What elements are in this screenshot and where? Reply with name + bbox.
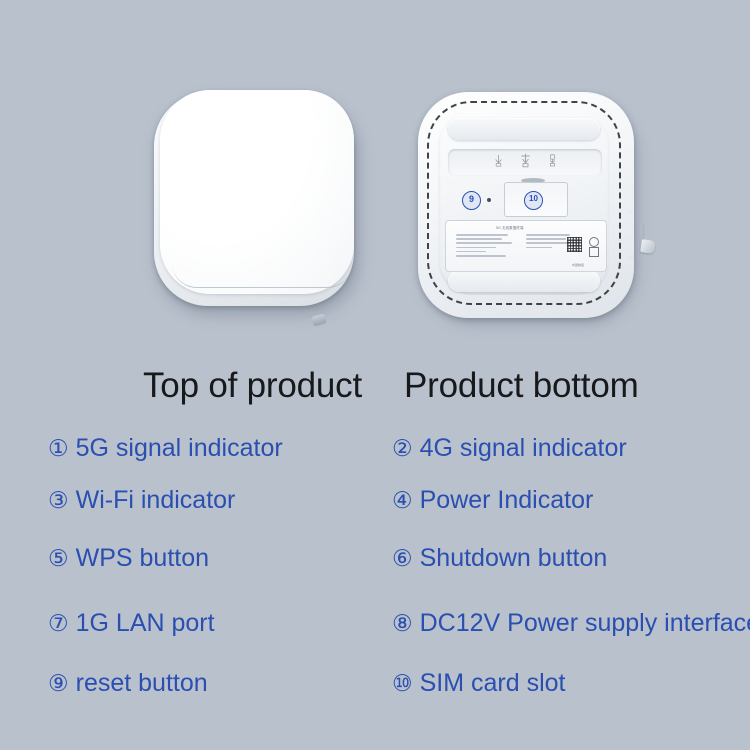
legend-number-3: ③ bbox=[48, 489, 69, 512]
rubber-foot-top bbox=[448, 118, 600, 140]
legend-label-1: 5G signal indicator bbox=[76, 436, 283, 461]
legend-item-6: ⑥ Shutdown button bbox=[392, 546, 607, 571]
legend-number-8: ⑧ bbox=[392, 612, 413, 635]
legend-item-5: ⑤ WPS button bbox=[48, 546, 209, 571]
legend-label-7: 1G LAN port bbox=[76, 611, 215, 636]
bottom-view-shell: 9 10 5G 无线数据终端 bbox=[418, 92, 634, 318]
product-photo-area: 9 10 5G 无线数据终端 bbox=[0, 0, 750, 360]
product-bottom-view-image: 9 10 5G 无线数据终端 bbox=[418, 92, 646, 328]
callout-badge-10: 10 bbox=[524, 191, 543, 210]
top-view-gloss-highlight bbox=[180, 100, 330, 170]
legend-item-9: ⑨ reset button bbox=[48, 671, 208, 696]
legend-item-8: ⑧ DC12V Power supply interface bbox=[392, 611, 750, 636]
reset-pinhole bbox=[487, 198, 491, 202]
specification-label: 5G 无线数据终端 中国制造 bbox=[445, 220, 607, 272]
legend-label-4: Power Indicator bbox=[420, 488, 594, 513]
legend-number-10: ⑩ bbox=[392, 672, 413, 695]
reset-port-icon bbox=[548, 154, 557, 172]
top-view-face bbox=[160, 90, 354, 294]
heading-top-of-product: Top of product bbox=[143, 366, 362, 406]
qr-code bbox=[567, 237, 582, 252]
legend-number-9: ⑨ bbox=[48, 672, 69, 695]
legend-number-4: ④ bbox=[392, 489, 413, 512]
bottom-view-side-tab bbox=[640, 239, 656, 254]
label-text-block-right bbox=[526, 234, 572, 251]
legend-label-3: Wi-Fi indicator bbox=[76, 488, 236, 513]
legend-label-5: WPS button bbox=[76, 546, 209, 571]
legend-label-8: DC12V Power supply interface bbox=[420, 611, 750, 636]
power-port-icon bbox=[520, 153, 531, 173]
label-footer: 中国制造 bbox=[572, 263, 584, 267]
legend-item-4: ④ Power Indicator bbox=[392, 488, 593, 513]
label-text-block-left bbox=[456, 234, 514, 259]
legend-item-1: ① 5G signal indicator bbox=[48, 436, 283, 461]
legend-number-6: ⑥ bbox=[392, 547, 413, 570]
lan-port-icon bbox=[494, 154, 503, 172]
legend-item-3: ③ Wi-Fi indicator bbox=[48, 488, 235, 513]
legend-area: ① 5G signal indicator ③ Wi-Fi indicator … bbox=[0, 428, 750, 728]
product-top-view-image bbox=[152, 88, 364, 320]
top-view-corner-notch bbox=[311, 313, 327, 326]
legend-label-10: SIM card slot bbox=[420, 671, 566, 696]
legend-item-2: ② 4G signal indicator bbox=[392, 436, 627, 461]
top-view-bottom-rim bbox=[172, 263, 352, 288]
legend-number-1: ① bbox=[48, 437, 69, 460]
label-title: 5G 无线数据终端 bbox=[496, 225, 524, 230]
legend-item-7: ⑦ 1G LAN port bbox=[48, 611, 215, 636]
certification-mark-square bbox=[589, 247, 599, 257]
legend-label-6: Shutdown button bbox=[420, 546, 608, 571]
legend-number-2: ② bbox=[392, 437, 413, 460]
legend-item-10: ⑩ SIM card slot bbox=[392, 671, 566, 696]
callout-badge-9: 9 bbox=[462, 191, 481, 210]
certification-mark-circle bbox=[589, 237, 599, 247]
legend-number-7: ⑦ bbox=[48, 612, 69, 635]
legend-number-5: ⑤ bbox=[48, 547, 69, 570]
legend-label-9: reset button bbox=[76, 671, 208, 696]
rubber-foot-bottom bbox=[448, 270, 600, 292]
section-headings: Top of product Product bottom bbox=[0, 366, 750, 414]
legend-label-2: 4G signal indicator bbox=[420, 436, 627, 461]
heading-product-bottom: Product bottom bbox=[404, 366, 639, 406]
port-recess-bar bbox=[448, 149, 602, 176]
